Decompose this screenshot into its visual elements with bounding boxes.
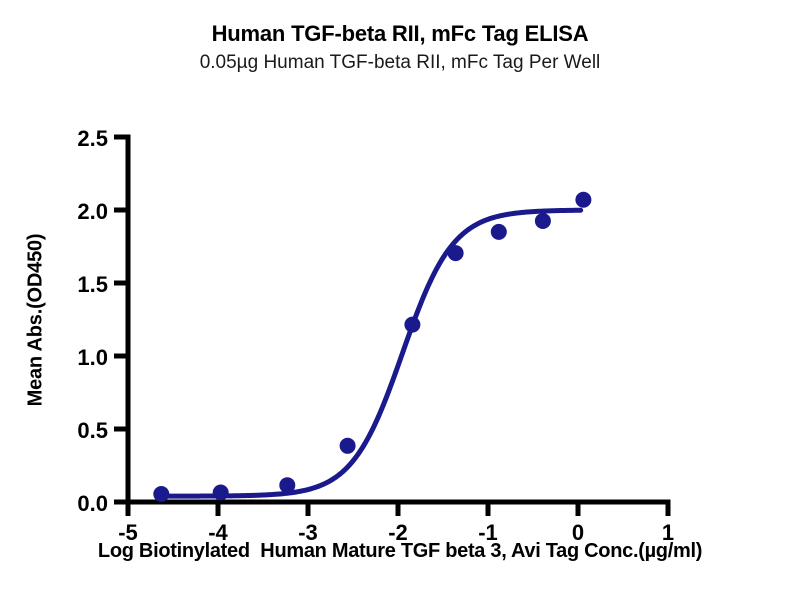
- x-axis-tick-labels: -5 -4 -3 -2 -1 0 1: [118, 520, 674, 545]
- data-point: [491, 224, 507, 240]
- x-tick-label: 0: [572, 520, 584, 545]
- y-tick-label: 2.0: [77, 199, 108, 224]
- y-tick-label: 0.5: [77, 418, 108, 443]
- x-tick-label: -4: [208, 520, 228, 545]
- x-tick-label: -3: [298, 520, 318, 545]
- data-point: [340, 438, 356, 454]
- fit-curve: [161, 210, 580, 496]
- data-point: [535, 213, 551, 229]
- y-tick-label: 0.0: [77, 491, 108, 516]
- y-tick-label: 1.0: [77, 345, 108, 370]
- x-tick-label: 1: [662, 520, 674, 545]
- data-point: [404, 317, 420, 333]
- elisa-chart-figure: Human TGF-beta RII, mFc Tag ELISA 0.05µg…: [0, 0, 800, 600]
- y-axis-tick-labels: 0.0 0.5 1.0 1.5 2.0 2.5: [77, 126, 108, 516]
- x-tick-label: -1: [478, 520, 498, 545]
- data-point: [213, 485, 229, 501]
- y-tick-label: 2.5: [77, 126, 108, 151]
- y-tick-label: 1.5: [77, 272, 108, 297]
- x-tick-label: -5: [118, 520, 138, 545]
- plot-area: 0.0 0.5 1.0 1.5 2.0 2.5 -5 -4 -3 -2 -1 0…: [0, 0, 800, 600]
- data-point: [575, 192, 591, 208]
- x-tick-label: -2: [388, 520, 408, 545]
- data-point: [279, 477, 295, 493]
- data-point: [448, 245, 464, 261]
- data-point: [153, 486, 169, 502]
- data-point-group: [153, 192, 591, 502]
